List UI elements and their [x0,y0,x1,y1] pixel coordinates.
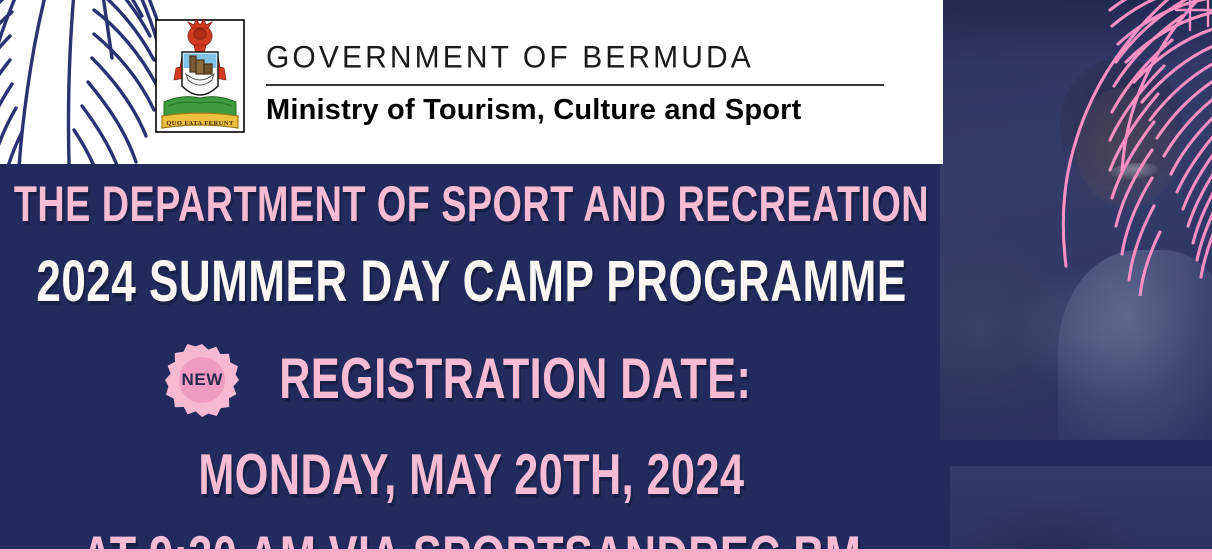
registration-row: NEW REGISTRATION DATE: [165,343,778,417]
photo-divider-gap [940,440,1212,466]
registration-date-value: MONDAY, MAY 20TH, 2024 [198,447,744,505]
bottom-accent-bar [0,549,1212,560]
new-badge-label: NEW [182,370,223,390]
ministry-titles: GOVERNMENT OF BERMUDA Ministry of Touris… [266,37,884,128]
government-logo-lockup: QUO FATA FERUNT GOVERNMENT OF BERMUDA Mi… [152,16,884,148]
new-badge: NEW [165,343,239,417]
title-divider-rule [266,84,884,86]
photo-shirt-shape [1058,250,1212,470]
photo-face-shape [1076,88,1180,208]
programme-line: 2024 SUMMER DAY CAMP PROGRAMME [36,253,906,312]
photo-smile-shape [1110,161,1159,180]
photo-column [940,0,1212,560]
photo-child-silhouette [948,465,1212,560]
announcement-block: THE DEPARTMENT OF SPORT AND RECREATION 2… [0,164,943,549]
government-of-bermuda-title: GOVERNMENT OF BERMUDA [266,40,884,76]
photo-top-shade [940,0,1212,62]
government-header-box: QUO FATA FERUNT GOVERNMENT OF BERMUDA Mi… [0,0,943,164]
crest-motto-text: QUO FATA FERUNT [166,120,234,127]
photo-girl-smiling [940,0,1212,468]
department-line: THE DEPARTMENT OF SPORT AND RECREATION [14,179,929,229]
photo-hair-shape [1060,58,1182,186]
registration-date-label: REGISTRATION DATE: [279,351,751,409]
ministry-title: Ministry of Tourism, Culture and Sport [266,94,884,127]
summer-camp-poster: QUO FATA FERUNT GOVERNMENT OF BERMUDA Mi… [0,0,1212,560]
bermuda-coat-of-arms-icon: QUO FATA FERUNT [152,16,248,148]
